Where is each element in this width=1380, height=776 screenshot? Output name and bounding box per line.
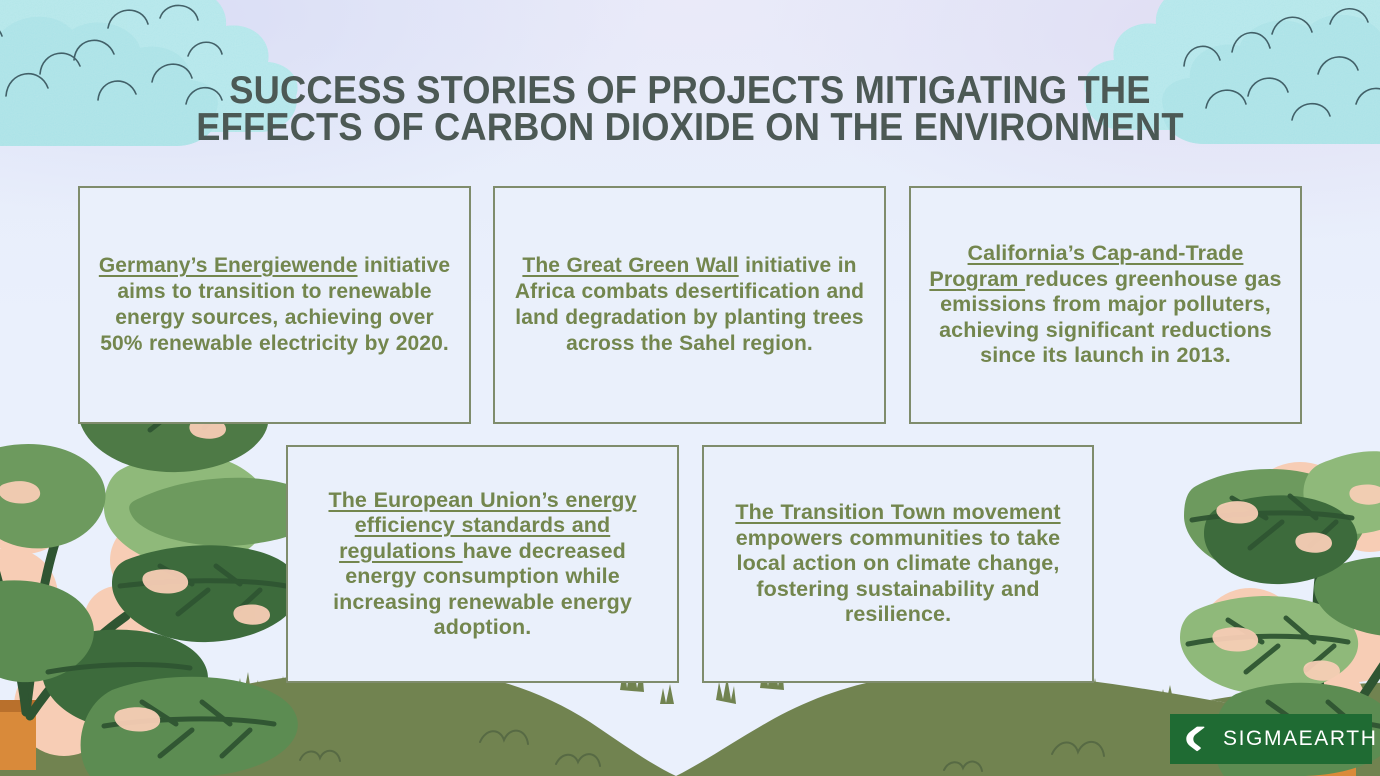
leaf <box>0 444 321 548</box>
hill-left <box>0 668 676 776</box>
card-germany-lead: Germany’s Energiewende <box>99 254 358 277</box>
title-line-1: SUCCESS STORIES OF PROJECTS MITIGATING T… <box>179 72 1202 109</box>
sigmaearth-wordmark: SIGMAEARTH <box>1223 727 1377 751</box>
leaf <box>0 580 298 776</box>
card-germany[interactable]: Germany’s Energiewende initiative aims t… <box>78 186 471 424</box>
card-eu-text: The European Union’s energy efficiency s… <box>302 488 663 641</box>
card-transition-town-text: The Transition Town movement empowers co… <box>718 500 1078 628</box>
slide-title: SUCCESS STORIES OF PROJECTS MITIGATING T… <box>0 72 1380 146</box>
sigmaearth-logo-badge[interactable]: SIGMAEARTH <box>1170 714 1372 764</box>
grass-scribbles <box>160 715 1304 771</box>
card-california-text: California’s Cap-and-Trade Program reduc… <box>925 241 1286 369</box>
card-california-cap-and-trade[interactable]: California’s Cap-and-Trade Program reduc… <box>909 186 1302 424</box>
card-germany-text: Germany’s Energiewende initiative aims t… <box>94 253 455 357</box>
grass-tufts <box>30 654 1351 714</box>
card-great-green-wall-lead: The Great Green Wall <box>522 254 738 277</box>
card-european-union-energy-efficiency[interactable]: The European Union’s energy efficiency s… <box>286 445 679 683</box>
leaf <box>104 453 270 567</box>
card-great-green-wall[interactable]: The Great Green Wall initiative in Afric… <box>493 186 886 424</box>
leaf <box>42 545 300 728</box>
title-line-2: EFFECTS OF CARBON DIOXIDE ON THE ENVIRON… <box>179 109 1202 146</box>
leaf <box>1204 495 1357 584</box>
card-great-green-wall-text: The Great Green Wall initiative in Afric… <box>509 253 870 357</box>
leaf <box>1180 451 1380 694</box>
sigmaearth-spiral-icon <box>1186 725 1212 753</box>
card-transition-town-body: empowers communities to take local actio… <box>736 526 1061 627</box>
card-transition-town-lead: The Transition Town movement <box>735 500 1060 524</box>
leaf <box>1184 469 1366 574</box>
card-transition-town[interactable]: The Transition Town movement empowers co… <box>702 445 1094 683</box>
plant-cluster-left <box>0 367 321 776</box>
slide-canvas: SUCCESS STORIES OF PROJECTS MITIGATING T… <box>0 0 1380 776</box>
plant-pot <box>0 700 36 770</box>
